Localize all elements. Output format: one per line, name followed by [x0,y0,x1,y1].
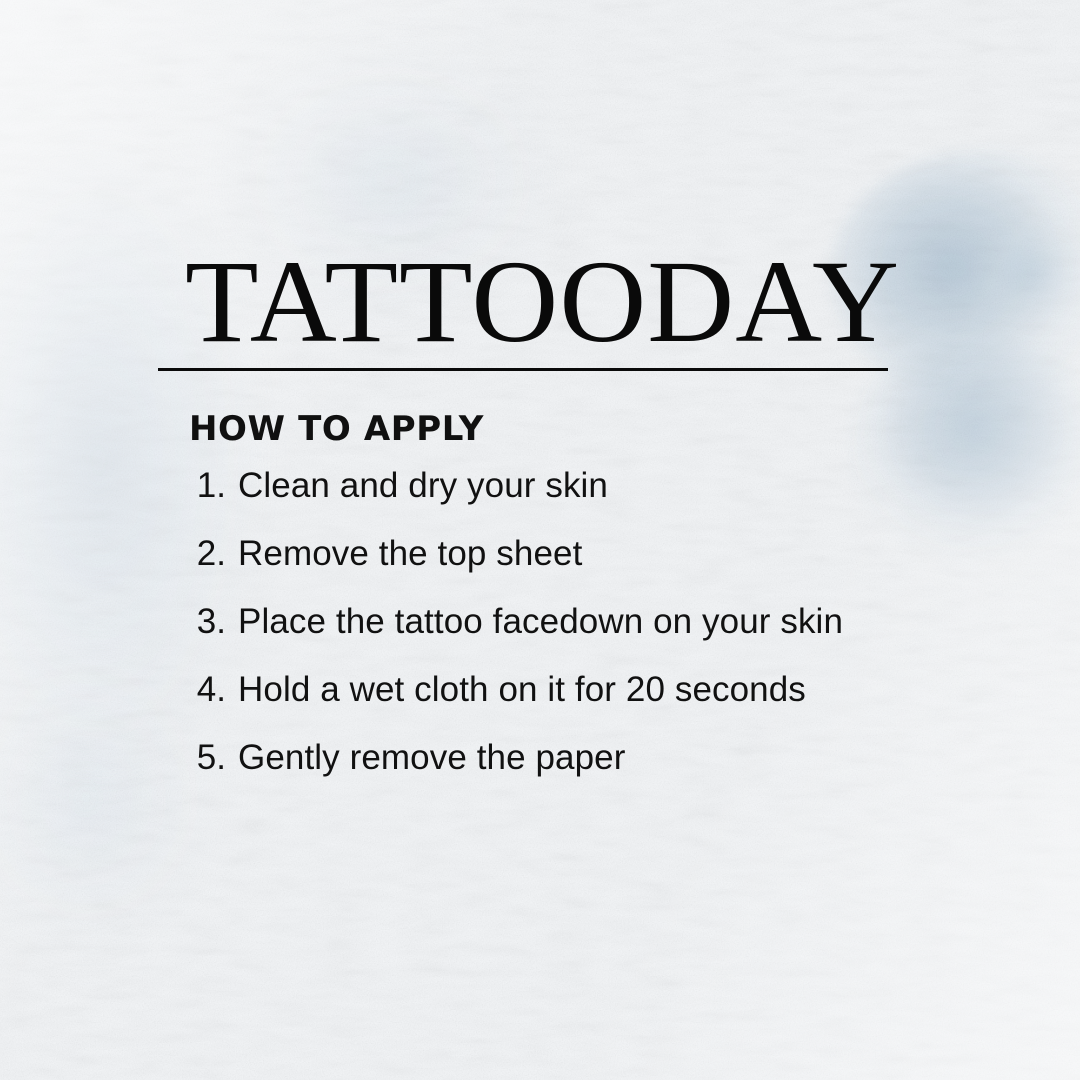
step-number: 3. [186,602,226,642]
section-heading-how-to-apply: HOW TO APPLY [189,409,484,449]
title-divider-rule [158,368,888,371]
step-text: Remove the top sheet [238,534,986,574]
step-number: 2. [186,534,226,574]
brand-title: TATTOODAY [185,243,899,361]
list-item: 3. Place the tattoo facedown on your ski… [186,602,986,670]
list-item: 4. Hold a wet cloth on it for 20 seconds [186,670,986,738]
step-number: 4. [186,670,226,710]
list-item: 5. Gently remove the paper [186,738,986,806]
list-item: 1. Clean and dry your skin [186,466,986,534]
step-number: 5. [186,738,226,778]
poster-canvas: TATTOODAY HOW TO APPLY 1. Clean and dry … [0,0,1080,1080]
poster-content: TATTOODAY HOW TO APPLY 1. Clean and dry … [0,0,1080,1080]
instruction-steps-list: 1. Clean and dry your skin 2. Remove the… [186,466,986,806]
step-text: Hold a wet cloth on it for 20 seconds [238,670,986,710]
list-item: 2. Remove the top sheet [186,534,986,602]
step-text: Place the tattoo facedown on your skin [238,602,986,642]
step-number: 1. [186,466,226,506]
step-text: Gently remove the paper [238,738,986,778]
step-text: Clean and dry your skin [238,466,986,506]
